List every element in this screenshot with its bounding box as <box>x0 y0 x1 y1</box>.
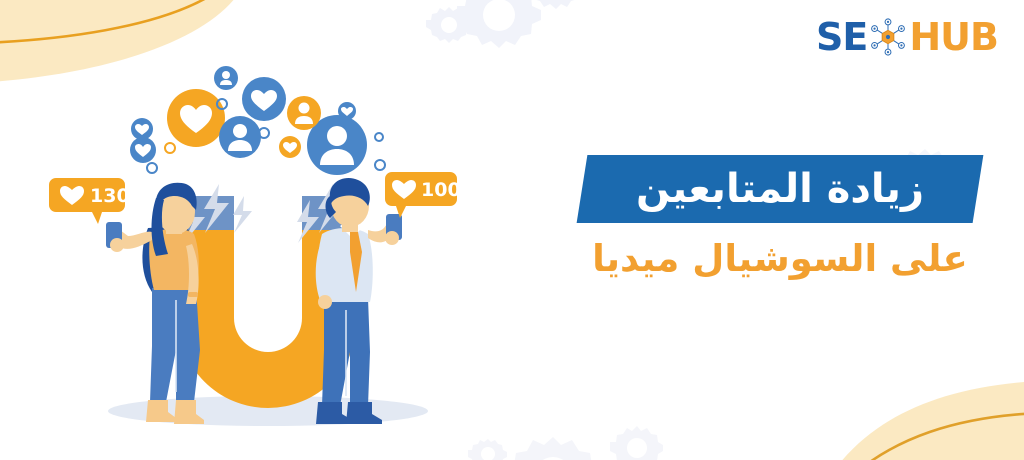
site-logo[interactable]: SE <box>816 14 998 60</box>
logo-text-hub: HUB <box>909 18 998 56</box>
floating-social-icons <box>130 66 385 175</box>
dot-icon-e <box>375 160 385 170</box>
heart-icon-small-blue-b <box>130 137 156 163</box>
user-icon-small-orange <box>287 96 321 130</box>
dot-icon-f <box>375 133 383 141</box>
headline-line-2: على السوشيال ميديا <box>560 239 1000 280</box>
heart-icon-small-blue-a <box>131 118 153 140</box>
like-count-right: 100 <box>421 179 461 201</box>
headline-banner-shape: زيادة المتابعين <box>560 155 1000 223</box>
dot-icon-d <box>165 143 175 153</box>
heart-icon-small-blue-c <box>338 102 356 120</box>
heart-icon-small-orange <box>279 136 301 158</box>
promo-banner: 130 100 SE <box>0 0 1024 460</box>
man-with-phone <box>316 178 402 424</box>
like-count-left: 130 <box>90 185 130 207</box>
like-badge-right: 100 <box>385 172 461 218</box>
heart-icon-medium-blue <box>242 77 286 121</box>
user-icon-tiny-blue <box>214 66 238 90</box>
headline-block: زيادة المتابعين على السوشيال ميديا <box>560 155 1000 280</box>
dot-icon-c <box>147 163 157 173</box>
logo-text-se: SE <box>816 18 867 56</box>
like-badge-left: 130 <box>49 178 130 224</box>
user-icon-medium-blue <box>219 116 261 158</box>
hexagon-network-icon <box>867 16 909 58</box>
woman-with-phone <box>106 183 204 424</box>
heart-icon-large-orange <box>167 89 225 147</box>
headline-line-1: زيادة المتابعين <box>560 155 1000 223</box>
